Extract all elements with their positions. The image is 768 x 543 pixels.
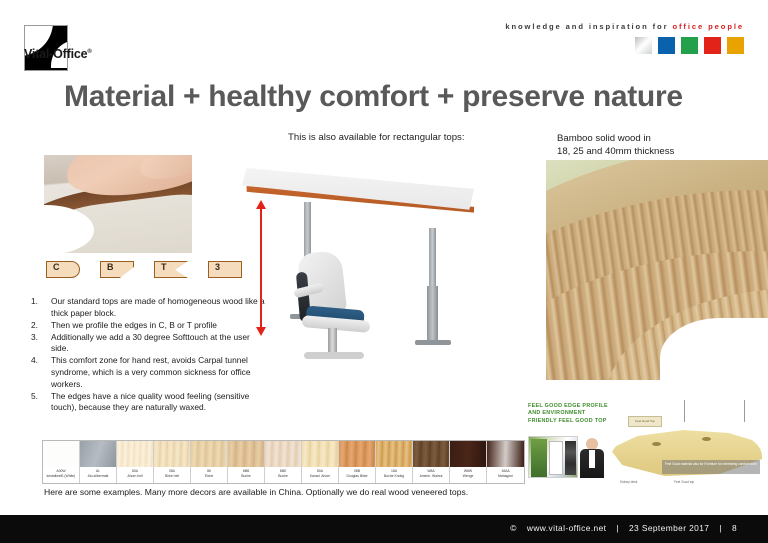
caption-bamboo-line2: 18, 25 and 40mm thickness: [557, 145, 674, 158]
caption-bamboo-line1: Bamboo solid wood in: [557, 132, 674, 145]
kidney-desktop-cable-hole-1: [652, 442, 661, 446]
promo-feel-good-badge: Feel Good Top: [628, 416, 662, 427]
list-item-number: 3.: [28, 332, 51, 355]
list-item-number: 1.: [28, 296, 51, 319]
header-color-squares: [635, 37, 744, 54]
photo-bamboo-solid-wood: [546, 160, 768, 380]
footer-text: ©www.vital-office.net|23 September 2017|…: [505, 523, 742, 533]
chair-base: [304, 352, 364, 359]
edge-profile-t-shape: [154, 261, 188, 278]
decor-name: Birke hell: [154, 474, 190, 479]
decor-swatch-strip: A00W kristallweiß (White) AL Alu-silberm…: [42, 440, 525, 484]
decor-chip: [302, 441, 338, 467]
edge-profile-b-shape: [100, 261, 134, 278]
edge-profile-c-label: C: [53, 262, 60, 272]
slide-title: Material + healthy comfort + preserve na…: [64, 80, 683, 114]
decor-name: kristallweiß (White): [43, 474, 79, 479]
promo-sublabel-2: Feel Good top: [674, 480, 694, 484]
decor-name: Douglas Birke: [339, 474, 375, 479]
promo-headline: FEEL GOOD EDGE PROFILE AND ENVIRONMENT F…: [528, 403, 608, 425]
promo-caption-overlay: Feel Good material also for Furniture fo…: [662, 460, 760, 474]
decor-chip: [339, 441, 375, 467]
decor-swatch[interactable]: 08B Douglas Birke: [339, 441, 376, 483]
edge-profile-t-icon[interactable]: T: [154, 261, 188, 278]
promo-headline-line3: FRIENDLY FEEL GOOD TOP: [528, 418, 608, 425]
decor-meta: AL Alu-silbermatt: [80, 467, 116, 483]
decor-chip: [376, 441, 412, 467]
decor-swatch[interactable]: 80A Kanad. Ahorn: [302, 441, 339, 483]
chair-gas-column: [328, 328, 337, 354]
list-item-number: 4.: [28, 355, 51, 390]
promo-person-figure: [580, 438, 604, 478]
desk-foot-right: [415, 340, 451, 345]
color-square-green: [681, 37, 698, 54]
footer-copyright: ©: [510, 523, 517, 533]
edge-profile-b-label: B: [107, 262, 114, 272]
decor-meta: 08A Birke hell: [154, 467, 190, 483]
edge-profile-c-icon[interactable]: C: [46, 261, 80, 278]
photo-hand-on-desk-edge: [44, 155, 192, 253]
desk-leg-upper-right: [429, 228, 436, 288]
list-item-number: 2.: [28, 320, 51, 332]
decor-name: Alu-silbermatt: [80, 474, 116, 479]
edge-profile-c-shape: [46, 261, 80, 278]
decor-name: Kanad. Ahorn: [302, 474, 338, 479]
decor-swatch[interactable]: W8A Americ. Walnut: [413, 441, 450, 483]
decor-chip: [117, 441, 153, 467]
tagline-main: knowledge and inspiration for: [505, 22, 672, 31]
decor-swatch[interactable]: M80 Buche: [265, 441, 302, 483]
decor-chip: [265, 441, 301, 467]
decor-meta: W8W Wenge: [450, 467, 486, 483]
footer-separator-1: |: [616, 523, 619, 533]
decor-note-text: Here are some examples. Many more decors…: [44, 487, 468, 497]
promo-sublabel-1: Kidney desk: [620, 480, 637, 484]
list-item-text: The edges have a nice quality wood feeli…: [51, 391, 268, 414]
edge-profile-icon-row: C B T 3: [46, 261, 242, 278]
header-tagline: knowledge and inspiration for office peo…: [505, 22, 744, 31]
decor-swatch[interactable]: 16AA Mahagoni: [487, 441, 524, 483]
logo-wordmark-text: Vital-Office: [24, 47, 87, 61]
color-square-red: [704, 37, 721, 54]
decor-meta: 86 Eiche: [191, 467, 227, 483]
decor-name: Americ. Walnut: [413, 474, 449, 479]
decor-swatch[interactable]: M86 Buche: [228, 441, 265, 483]
decor-meta: M86 Buche: [228, 467, 264, 483]
decor-meta: 16AA Mahagoni: [487, 467, 524, 483]
promo-headline-line1: FEEL GOOD EDGE PROFILE: [528, 403, 608, 410]
collage-certificate-card: [549, 441, 563, 475]
edge-profile-b-icon[interactable]: B: [100, 261, 134, 278]
edge-profile-3-label: 3: [215, 262, 220, 272]
decor-meta: A00W kristallweiß (White): [43, 467, 79, 483]
kidney-desktop-cable-hole-2: [702, 437, 711, 441]
decor-name: Eiche: [191, 474, 227, 479]
color-square-silver: [635, 37, 652, 54]
decor-name: Buche Knotig: [376, 474, 412, 479]
caption-bamboo: Bamboo solid wood in 18, 25 and 40mm thi…: [557, 132, 674, 158]
logo-trademark: ®: [87, 49, 91, 55]
promo-headline-line2: AND ENVIRONMENT: [528, 410, 608, 417]
decor-meta: 80A Kanad. Ahorn: [302, 467, 338, 483]
height-adjustment-arrow-icon: [260, 208, 262, 328]
decor-chip: [487, 441, 524, 467]
promo-divider-line-2: [744, 400, 745, 422]
decor-meta: M80 Buche: [265, 467, 301, 483]
decor-chip: [228, 441, 264, 467]
decor-swatch[interactable]: 86 Eiche: [191, 441, 228, 483]
desk-tabletop: [242, 168, 474, 226]
decor-swatch[interactable]: A00W kristallweiß (White): [43, 441, 80, 483]
slide-footer-bar: ©www.vital-office.net|23 September 2017|…: [0, 515, 768, 543]
decor-meta: W8A Americ. Walnut: [413, 467, 449, 483]
decor-name: Buche: [228, 474, 264, 479]
list-item: 5. The edges have a nice quality wood fe…: [28, 391, 268, 414]
decor-swatch[interactable]: 80A Ahorn hell: [117, 441, 154, 483]
promo-divider-line-1: [684, 400, 685, 422]
caption-rectangular-tops: This is also available for rectangular t…: [288, 132, 465, 143]
list-item-number: 5.: [28, 391, 51, 414]
decor-meta: 80A Ahorn hell: [117, 467, 153, 483]
decor-chip: [80, 441, 116, 467]
color-square-blue: [658, 37, 675, 54]
footer-separator-2: |: [719, 523, 722, 533]
promo-feel-good-block: FEEL GOOD EDGE PROFILE AND ENVIRONMENT F…: [524, 400, 768, 492]
footer-page-number: 8: [732, 523, 737, 533]
slide-canvas: Vital-Office® knowledge and inspiration …: [0, 0, 768, 543]
footer-date: 23 September 2017: [629, 523, 709, 533]
decor-chip: [450, 441, 486, 467]
collage-eco-badges: [565, 441, 576, 475]
decor-name: Wenge: [450, 474, 486, 479]
collage-bamboo-leaf: [531, 439, 547, 477]
person-shirt: [589, 450, 595, 468]
decor-swatch[interactable]: AL Alu-silbermatt: [80, 441, 117, 483]
footer-site: www.vital-office.net: [527, 523, 607, 533]
decor-swatch[interactable]: 18A Buche Knotig: [376, 441, 413, 483]
decor-chip: [191, 441, 227, 467]
edge-profile-t-label: T: [161, 262, 167, 272]
decor-name: Mahagoni: [487, 474, 524, 479]
promo-kidney-desktop: Feel Good material also for Furniture fo…: [610, 428, 762, 478]
decor-swatch[interactable]: W8W Wenge: [450, 441, 487, 483]
decor-meta: 18A Buche Knotig: [376, 467, 412, 483]
logo-wordmark: Vital-Office®: [24, 47, 92, 61]
decor-name: Ahorn hell: [117, 474, 153, 479]
color-square-orange: [727, 37, 744, 54]
decor-chip: [154, 441, 190, 467]
promo-divider-lines: [684, 400, 768, 422]
promo-collage-thumbnail: [528, 436, 578, 478]
decor-meta: 08B Douglas Birke: [339, 467, 375, 483]
decor-name: Buche: [265, 474, 301, 479]
decor-swatch[interactable]: 08A Birke hell: [154, 441, 191, 483]
height-adjustable-desk-illustration: [232, 160, 482, 375]
tagline-highlight: office people: [672, 22, 744, 31]
decor-chip: [413, 441, 449, 467]
decor-chip: [43, 441, 79, 467]
desk-leg-lower-right: [427, 286, 438, 342]
